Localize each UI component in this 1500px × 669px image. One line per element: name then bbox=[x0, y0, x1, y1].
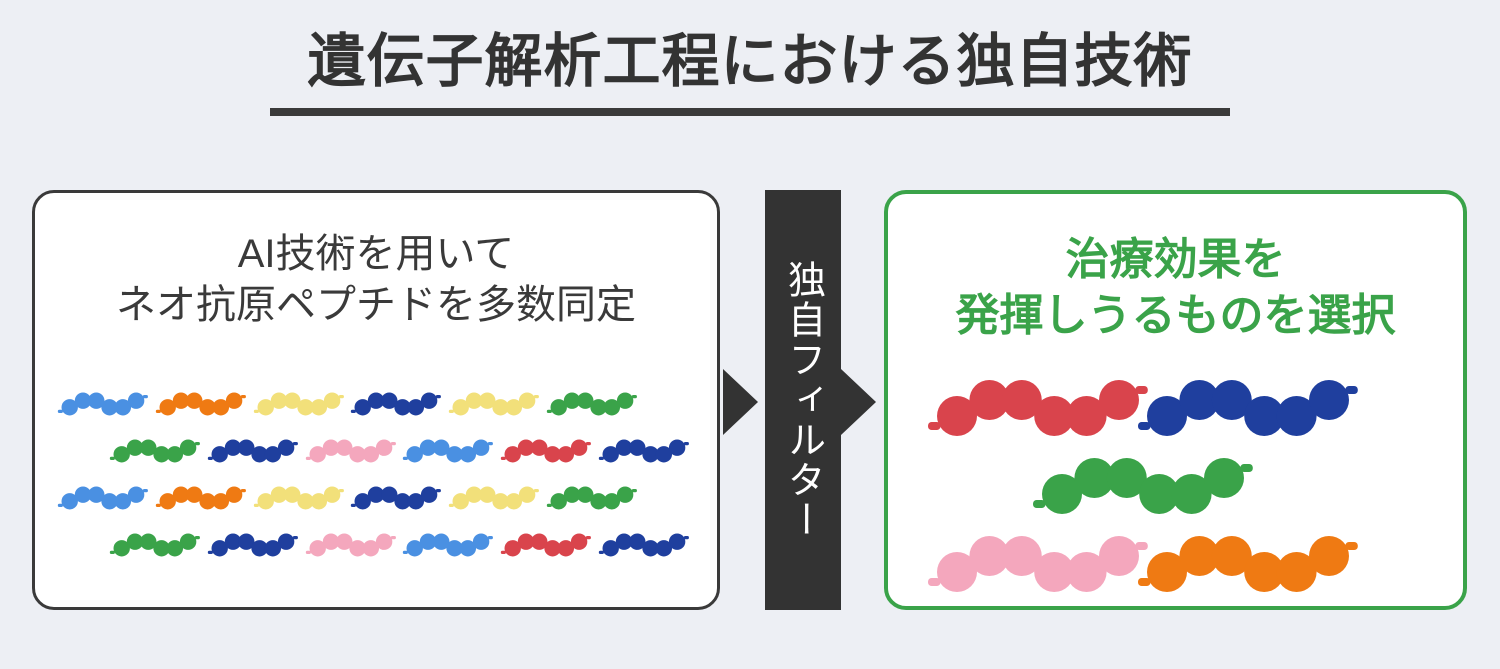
filter-bar-label: 独自フィルター bbox=[765, 190, 841, 610]
peptide-chain-icon bbox=[546, 388, 638, 420]
peptide-chain-icon bbox=[598, 529, 690, 561]
title-block: 遺伝子解析工程における独自技術 bbox=[0, 30, 1500, 116]
peptide-chain-icon bbox=[448, 482, 540, 514]
peptide-chain bbox=[546, 388, 638, 425]
peptide-chain bbox=[448, 388, 540, 425]
input-panel-heading: AI技術を用いて ネオ抗原ペプチドを多数同定 bbox=[35, 229, 717, 331]
peptide-green-icon bbox=[1031, 447, 1255, 525]
peptide-chain bbox=[500, 435, 592, 472]
peptide-chain bbox=[402, 529, 494, 566]
peptide-chain bbox=[305, 435, 397, 472]
peptide-chain-icon bbox=[350, 482, 442, 514]
filter-bar: 独自フィルター bbox=[765, 190, 841, 610]
process-flow-diagram: AI技術を用いて ネオ抗原ペプチドを多数同定 独自フィルター 治療効果を 発揮し… bbox=[0, 190, 1500, 615]
peptide-chain bbox=[598, 435, 690, 472]
peptide-chain-icon bbox=[155, 482, 247, 514]
peptide-chain-icon bbox=[207, 435, 299, 467]
peptide-chain-icon bbox=[448, 388, 540, 420]
peptide-chain bbox=[109, 529, 201, 566]
peptide-chain bbox=[448, 482, 540, 519]
peptide-chain-icon bbox=[500, 529, 592, 561]
peptide-row bbox=[57, 477, 695, 524]
peptide-orange-icon bbox=[1136, 525, 1360, 603]
peptide-row bbox=[57, 383, 695, 430]
peptide-chain-icon bbox=[57, 482, 149, 514]
output-panel: 治療効果を 発揮しうるものを選択 bbox=[884, 190, 1467, 610]
peptide-chain bbox=[350, 388, 442, 425]
input-peptide-grid bbox=[35, 383, 717, 571]
peptide-chain bbox=[253, 482, 345, 519]
peptide-chain-icon bbox=[253, 482, 345, 514]
peptide-chain bbox=[546, 482, 638, 519]
peptide-chain-icon bbox=[546, 482, 638, 514]
peptide-chain-icon bbox=[57, 388, 149, 420]
peptide-chain-icon bbox=[598, 435, 690, 467]
peptide-pink-icon bbox=[926, 525, 1150, 603]
peptide-orange bbox=[1136, 525, 1360, 608]
peptide-row bbox=[57, 524, 695, 571]
flow-arrow-right-icon bbox=[841, 369, 876, 435]
peptide-chain bbox=[402, 435, 494, 472]
peptide-chain bbox=[305, 529, 397, 566]
page-title: 遺伝子解析工程における独自技術 bbox=[0, 30, 1500, 94]
peptide-chain bbox=[57, 482, 149, 519]
peptide-chain-icon bbox=[305, 529, 397, 561]
peptide-chain-icon bbox=[207, 529, 299, 561]
peptide-chain bbox=[598, 529, 690, 566]
peptide-chain bbox=[253, 388, 345, 425]
peptide-chain-icon bbox=[500, 435, 592, 467]
peptide-chain bbox=[155, 388, 247, 425]
title-underline bbox=[270, 108, 1230, 116]
peptide-red bbox=[926, 369, 1150, 452]
peptide-chain-icon bbox=[305, 435, 397, 467]
peptide-chain-icon bbox=[109, 529, 201, 561]
peptide-navy bbox=[1136, 369, 1360, 452]
peptide-chain-icon bbox=[402, 529, 494, 561]
input-panel: AI技術を用いて ネオ抗原ペプチドを多数同定 bbox=[32, 190, 720, 610]
output-panel-heading: 治療効果を 発揮しうるものを選択 bbox=[888, 232, 1463, 345]
peptide-chain-icon bbox=[109, 435, 201, 467]
peptide-chain bbox=[500, 529, 592, 566]
peptide-chain-icon bbox=[253, 388, 345, 420]
peptide-chain bbox=[109, 435, 201, 472]
peptide-chain bbox=[207, 435, 299, 472]
peptide-chain-icon bbox=[350, 388, 442, 420]
peptide-pink bbox=[926, 525, 1150, 608]
peptide-red-icon bbox=[926, 369, 1150, 447]
peptide-chain-icon bbox=[155, 388, 247, 420]
flow-arrow-left-icon bbox=[723, 369, 758, 435]
peptide-chain bbox=[207, 529, 299, 566]
peptide-row bbox=[57, 430, 695, 477]
peptide-chain-icon bbox=[402, 435, 494, 467]
peptide-green bbox=[1031, 447, 1255, 530]
peptide-chain bbox=[350, 482, 442, 519]
output-peptide-group bbox=[888, 369, 1463, 584]
peptide-navy-icon bbox=[1136, 369, 1360, 447]
peptide-chain bbox=[57, 388, 149, 425]
peptide-chain bbox=[155, 482, 247, 519]
